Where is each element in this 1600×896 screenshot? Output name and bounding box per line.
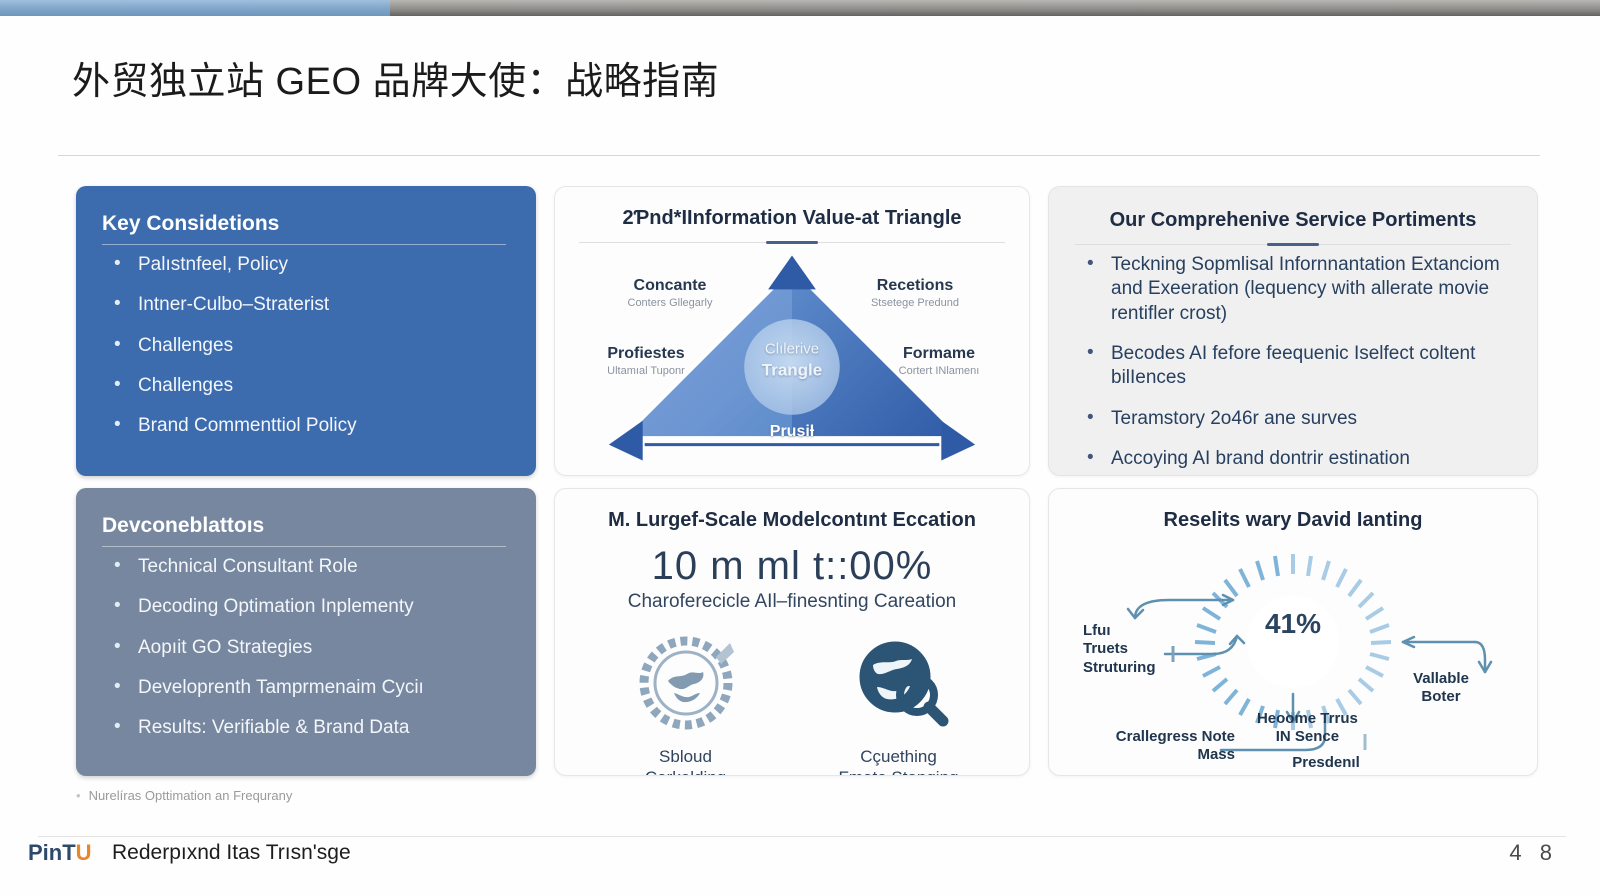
- triangle-vertex-mid-left: Profiestes Ultamıal Tuponr: [571, 345, 721, 378]
- card-results: Reselits wary David Ianting: [1048, 488, 1538, 776]
- title-underline: [579, 242, 1005, 243]
- title-underline: [1075, 244, 1511, 245]
- list-item: Becodes AI fefore feequenic Iselfect col…: [1075, 342, 1511, 391]
- list-item: Accoying AI brand dontrir estination: [1075, 447, 1511, 471]
- chrome-accent-blue: [0, 0, 390, 16]
- triangle-vertex-mid-right: Formame Cortert INlamenı: [859, 345, 1019, 378]
- icon-caption: Sbloud Corkelding: [591, 746, 781, 776]
- list-item: Brand Commenttiol Policy: [102, 414, 506, 438]
- card-title: Key Considetions: [102, 212, 506, 245]
- list-item: Technical Consultant Role: [102, 555, 506, 579]
- card-model-stats: M. Lurgef-Scale Modelcontınt Ecсation 10…: [554, 488, 1030, 776]
- card-title: Our Comprehenive Service Portiments: [1075, 209, 1511, 240]
- list-item: Aopıit GO Strategies: [102, 636, 506, 660]
- icon-cell-search: Cçuething Fmate Stanging: [804, 631, 994, 776]
- window-chrome-bar: [0, 0, 1600, 16]
- card-services: Our Comprehenive Service Portiments Teck…: [1048, 186, 1538, 476]
- triangle-center-label: Clılerivе Trangle: [762, 341, 822, 381]
- list-item: Developrenth Tamprmenaim Cyciı: [102, 676, 506, 700]
- arrow-left-icon: [609, 421, 643, 461]
- results-label-left-upper: LfuıTruеtsStruturing: [1083, 622, 1223, 677]
- chrome-accent-gray: [390, 0, 1600, 16]
- card-title: M. Lurgef-Scale Modelcontınt Ecсation: [579, 509, 1005, 540]
- card-deliverables: Devconeblattoıs Technical Consultant Rol…: [76, 488, 536, 776]
- icon-row: Sbloud Corkelding: [579, 631, 1005, 776]
- page-number: 4 8: [1509, 840, 1558, 866]
- icon-cell-cloud: Sbloud Corkelding: [591, 631, 781, 776]
- results-label-bottom-center: Heoome TrrusIN Sence: [1217, 710, 1397, 747]
- brand-logo: PinTU: [28, 840, 92, 866]
- logo-text-accent: U: [76, 840, 92, 865]
- list-item: Decoding Optimation Inplementy: [102, 595, 506, 619]
- stat-subtitle: Charoferecicle AIl–finesnting Careation: [579, 591, 1005, 613]
- icon-caption: Cçuething Fmate Stanging: [804, 746, 994, 776]
- title-divider: [58, 155, 1540, 156]
- card-title: Reselits wary David Ianting: [1073, 509, 1513, 540]
- list-item: Teckning Sopmlisal Infornnantation Extan…: [1075, 253, 1511, 326]
- results-label-bottom-left: Crallegress NoteMass: [1075, 728, 1235, 765]
- gear-globe-icon: [630, 631, 742, 735]
- card-title: 2Ƥnd*IInformation Value-at Triangle: [579, 207, 1005, 238]
- triangle-vertex-top-left: Concante Conters Gllegarly: [595, 277, 745, 310]
- list-item: Teramstory 2o46r ane surves: [1075, 407, 1511, 431]
- list-item: Intner-Culbo–Straterist: [102, 293, 506, 317]
- footer-divider: [38, 836, 1566, 837]
- list-item: Challenges: [102, 334, 506, 358]
- list-item: Palıstnfeel, Policy: [102, 253, 506, 277]
- page-title: 外贸独立站 GEO 品牌大使：战略指南: [72, 50, 719, 105]
- deliverables-list: Technical Consultant Role Decoding Optim…: [102, 555, 506, 741]
- results-label-right: VallableBoter: [1381, 670, 1501, 707]
- arrow-right-icon: [941, 421, 975, 461]
- card-grid: Key Considetions Palıstnfeel, Policy Int…: [76, 186, 1520, 776]
- slide-root: 外贸独立站 GEO 品牌大使：战略指南 Key Considetions Pal…: [0, 0, 1600, 896]
- results-label-bottom-below: Presdenıl& Esence:: [1251, 754, 1401, 776]
- slide-footnote: Nurelíras Opttimation an Frequrany: [76, 788, 292, 803]
- arrow-up-icon: [768, 255, 816, 289]
- card-key-considerations: Key Considetions Palıstnfeel, Policy Int…: [76, 186, 536, 476]
- card-value-triangle: 2Ƥnd*IInformation Value-at Triangle: [554, 186, 1030, 476]
- triangle-diagram: Concante Conters Gllegarly Recetions Sts…: [579, 249, 1005, 469]
- key-considerations-list: Palıstnfeel, Policy Intner-Culbo–Strater…: [102, 253, 506, 439]
- services-list: Teckning Sopmlisal Infornnantation Extan…: [1075, 253, 1511, 476]
- logo-text-primary: PinT: [28, 840, 76, 865]
- stat-value: 10 m ml t::00%: [579, 544, 1005, 589]
- triangle-vertex-top-right: Recetions Stsetege Predund: [835, 277, 995, 310]
- globe-search-icon: [843, 631, 955, 735]
- results-diagram: 41% LfuıTruеtsStruturing VallableBoter H…: [1073, 544, 1513, 760]
- footer-tagline: Rederpıxnd Itas Trısn'sge: [112, 841, 351, 865]
- card-title: Devconeblattoıs: [102, 514, 506, 547]
- triangle-base-label: Prusiƚ: [770, 423, 814, 441]
- list-item: Results: Verifiable & Brand Data: [102, 716, 506, 740]
- gauge-value: 41%: [1265, 608, 1321, 640]
- list-item: Challenges: [102, 374, 506, 398]
